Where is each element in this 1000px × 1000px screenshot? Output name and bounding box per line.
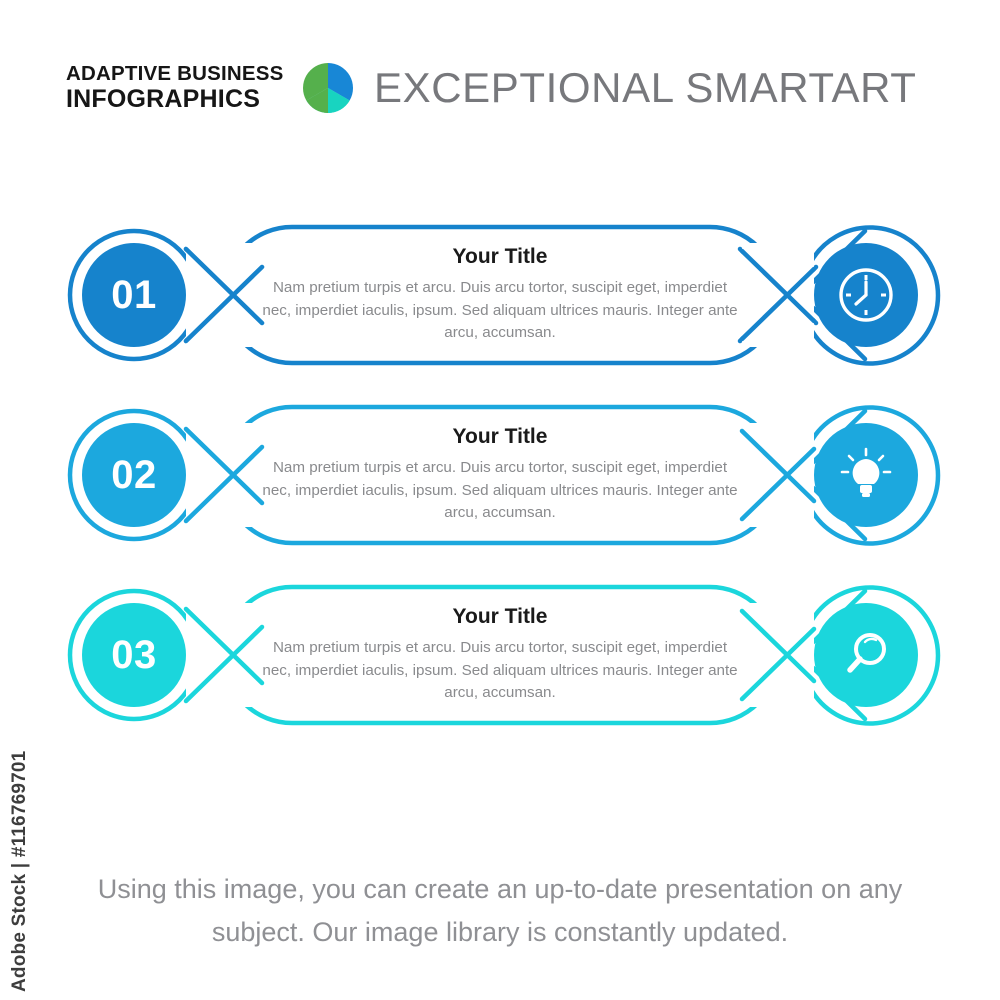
pie-chart-logo-icon	[303, 63, 353, 113]
clock-icon	[841, 270, 891, 320]
step-number-disc	[82, 243, 186, 347]
step-content: Your Title Nam pretium turpis et arcu. D…	[248, 565, 752, 745]
stock-watermark: Adobe Stock | #116769701	[9, 762, 35, 992]
list-item[interactable]: 03 Your Title Nam pretium turpis et arcu…	[0, 565, 1000, 745]
brand-line-2: INFOGRAPHICS	[66, 86, 296, 113]
list-item[interactable]: 02 Your Title Nam pretium turpis et arcu…	[0, 385, 1000, 565]
step-content: Your Title Nam pretium turpis et arcu. D…	[248, 205, 752, 385]
step-body: Nam pretium turpis et arcu. Duis arcu to…	[259, 277, 741, 345]
steps-list: 01 Your Title Nam pretium turpis et arcu…	[0, 205, 1000, 755]
step-title: Your Title	[453, 245, 548, 269]
step-content: Your Title Nam pretium turpis et arcu. D…	[248, 385, 752, 565]
brand-line-1: ADAPTIVE BUSINESS	[66, 62, 296, 86]
step-title: Your Title	[453, 425, 548, 449]
page-title: EXCEPTIONAL SMARTART	[374, 62, 917, 114]
step-number-disc	[82, 423, 186, 527]
step-body: Nam pretium turpis et arcu. Duis arcu to…	[259, 457, 741, 525]
list-item[interactable]: 01 Your Title Nam pretium turpis et arcu…	[0, 205, 1000, 385]
step-body: Nam pretium turpis et arcu. Duis arcu to…	[259, 637, 741, 705]
footer-caption: Using this image, you can create an up-t…	[50, 868, 950, 954]
brand-lockup: ADAPTIVE BUSINESS INFOGRAPHICS	[66, 62, 296, 113]
step-number-disc	[82, 603, 186, 707]
header: ADAPTIVE BUSINESS INFOGRAPHICS EXCEPTION…	[0, 0, 1000, 150]
step-icon-disc	[814, 603, 918, 707]
step-title: Your Title	[453, 605, 548, 629]
